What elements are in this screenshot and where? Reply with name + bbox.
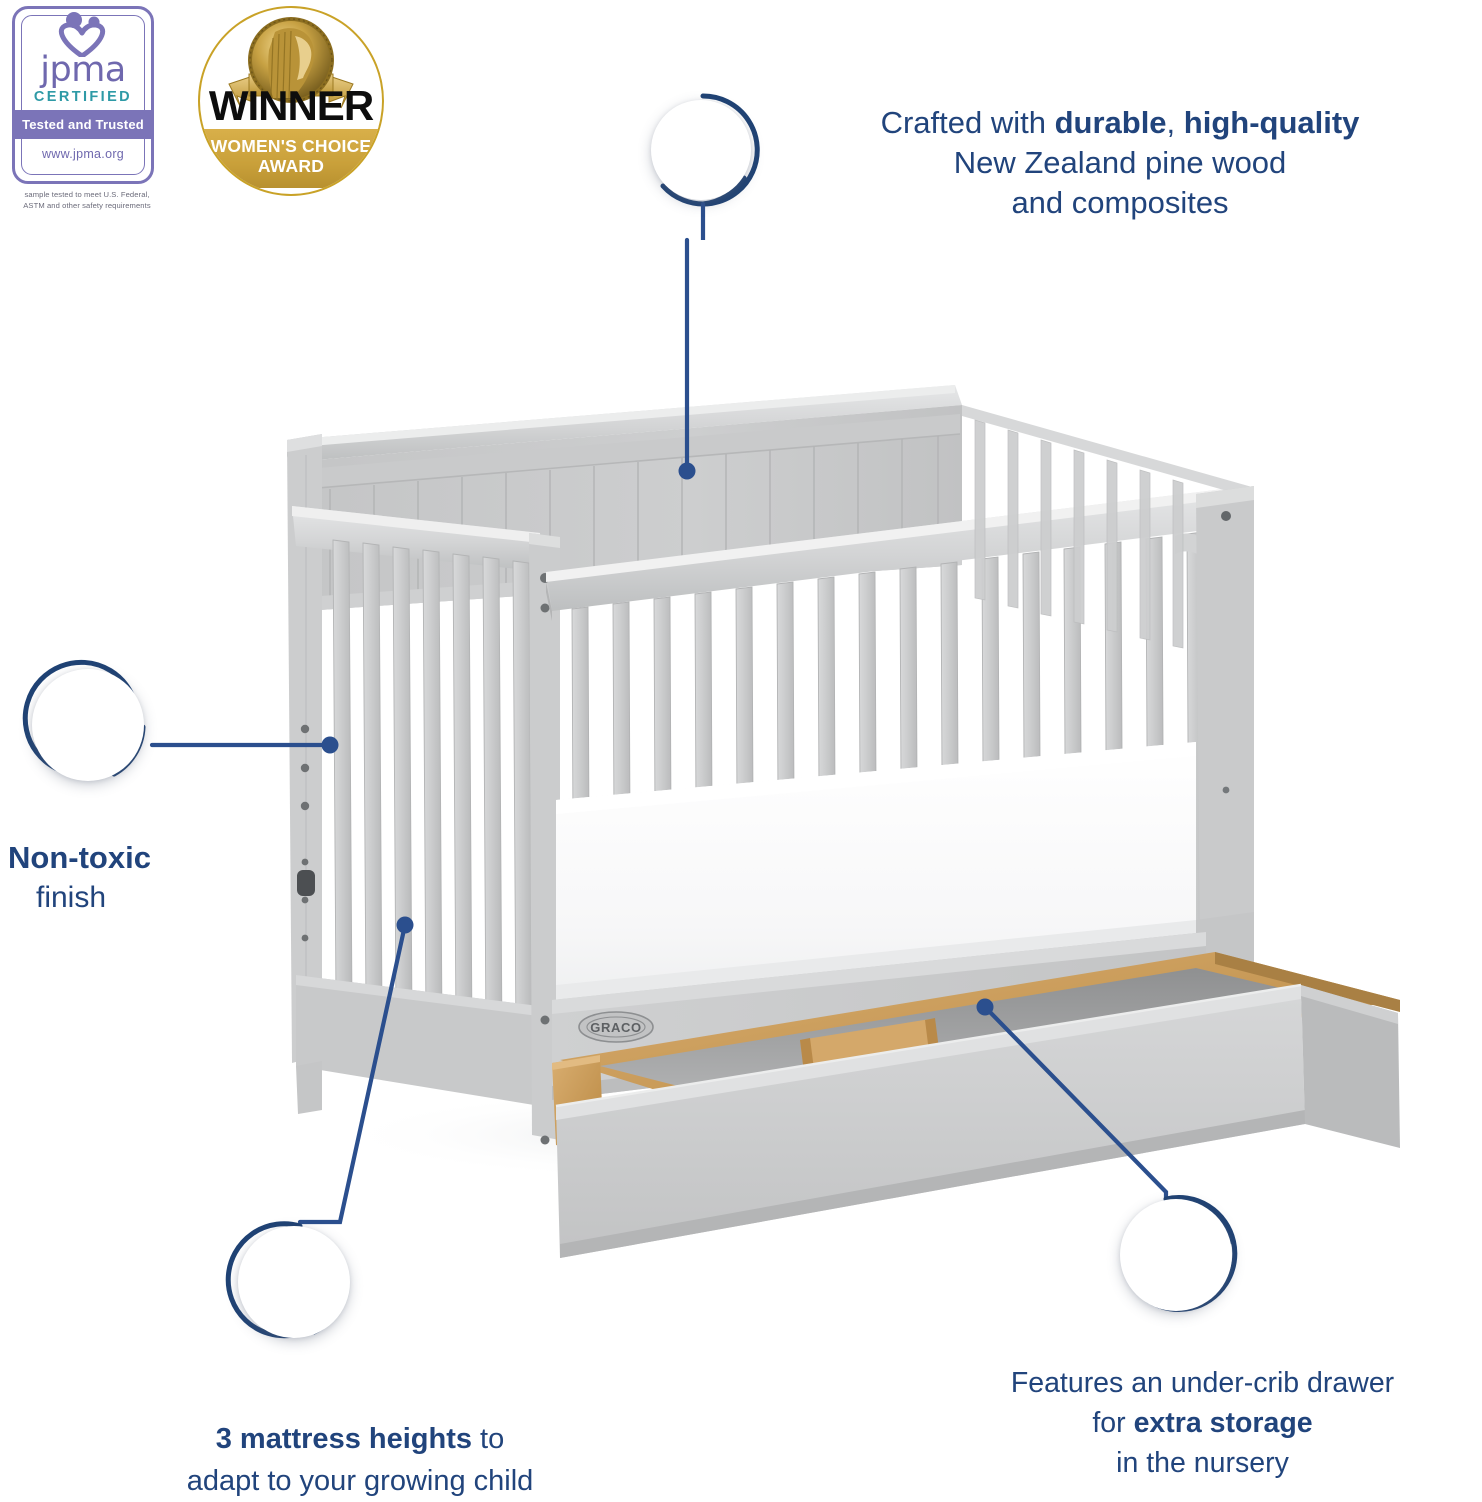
wca-winner-label: WINNER	[200, 84, 382, 128]
wood-line1-pre: Crafted with	[881, 105, 1055, 140]
callout-nontoxic-icon-ring	[18, 655, 158, 795]
mattress-line1-bold: 3 mattress heights	[216, 1423, 472, 1455]
jpma-fine-print: sample tested to meet U.S. Federal, ASTM…	[8, 190, 166, 211]
jpma-wordmark: jpma	[15, 53, 151, 87]
wca-award-line2: AWARD	[200, 156, 382, 176]
nontoxic-bold: Non-toxic	[8, 838, 238, 878]
drawer-line2-bold: extra storage	[1134, 1407, 1313, 1439]
jpma-fine-print-line1: sample tested to meet U.S. Federal,	[24, 190, 149, 199]
jpma-certified-badge: jpma CERTIFIED Tested and Trusted www.jp…	[12, 6, 162, 221]
jpma-card: jpma CERTIFIED Tested and Trusted www.jp…	[12, 6, 154, 184]
wood-line2: New Zealand pine wood	[954, 145, 1287, 180]
mattress-line1-rest: to	[472, 1423, 504, 1455]
nontoxic-regular: finish	[8, 878, 238, 918]
drawer-line2-pre: for	[1092, 1407, 1133, 1439]
svg-text:GRACO: GRACO	[590, 1020, 641, 1035]
drawer-line3: in the nursery	[1116, 1447, 1289, 1479]
jpma-tagline-band: Tested and Trusted	[15, 110, 151, 139]
jpma-certified-label: CERTIFIED	[15, 89, 151, 105]
wca-outer-ring: WINNER WOMEN'S CHOICE AWARD	[198, 6, 384, 196]
callout-mattress-icon-ring: 3	[224, 1212, 364, 1352]
wood-line1-bold: durable	[1055, 105, 1167, 140]
callout-wood-text: Crafted with durable, high-quality New Z…	[800, 103, 1440, 223]
callout-nontoxic-text: Non-toxic finish	[8, 838, 238, 918]
wca-award-line1: WOMEN'S CHOICE	[211, 136, 372, 156]
drawer-line1: Features an under-crib drawer	[1011, 1367, 1394, 1399]
callout-mattress-text: 3 mattress heights to adapt to your grow…	[60, 1418, 660, 1502]
mattress-line2: adapt to your growing child	[187, 1465, 534, 1497]
wood-line3: and composites	[1011, 185, 1228, 220]
womens-choice-award-badge: WINNER WOMEN'S CHOICE AWARD	[198, 6, 384, 196]
jpma-tagline: Tested and Trusted	[22, 117, 144, 132]
wood-line1-bold2: high-quality	[1184, 105, 1360, 140]
callout-drawer-icon-ring	[1106, 1185, 1246, 1325]
infographic-canvas: GRACO jpma	[0, 0, 1482, 1500]
jpma-fine-print-line2: ASTM and other safety requirements	[23, 201, 151, 210]
wca-award-label: WOMEN'S CHOICE AWARD	[200, 136, 382, 176]
callout-drawer-text: Features an under-crib drawer for extra …	[930, 1363, 1475, 1483]
wood-line1-mid: ,	[1167, 105, 1184, 140]
callout-wood-icon-ring	[641, 90, 761, 240]
jpma-url: www.jpma.org	[15, 147, 151, 161]
